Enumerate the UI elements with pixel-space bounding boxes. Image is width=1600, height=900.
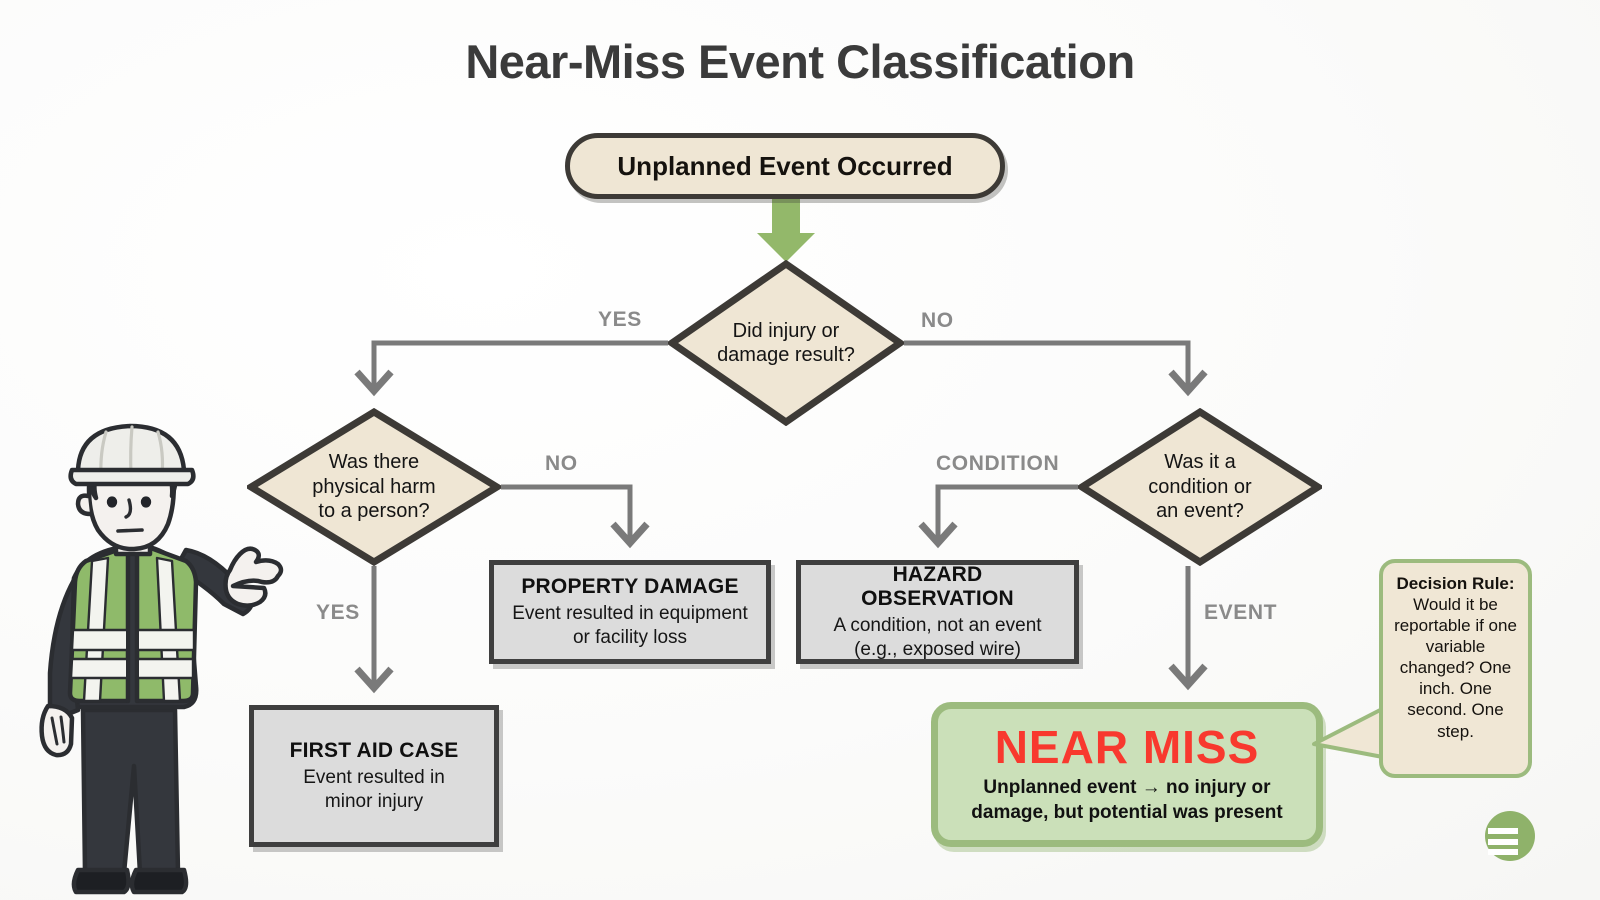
edge-label-root-yes: YES — [598, 308, 642, 332]
callout-body: Would it be reportable if one variable c… — [1394, 595, 1517, 740]
decision-rule-callout[interactable]: Decision Rule: Would it be reportable if… — [1379, 559, 1532, 778]
outcome-desc-line2: or facility loss — [573, 626, 687, 649]
edge-label-root-no: NO — [921, 309, 954, 333]
outcome-title: HAZARD OBSERVATION — [815, 563, 1060, 611]
edge-left-yes — [357, 566, 391, 688]
start-node-label: Unplanned Event Occurred — [617, 152, 952, 181]
edge-root-no — [904, 343, 1205, 391]
near-miss-desc-line2: damage, but potential was present — [971, 801, 1282, 825]
near-miss-title: NEAR MISS — [995, 724, 1260, 770]
construction-worker-illustration — [28, 418, 290, 900]
diamond-shape — [1078, 408, 1322, 566]
callout-heading: Decision Rule: — [1396, 574, 1514, 593]
edge-left-no — [501, 487, 647, 543]
diamond-shape — [668, 260, 904, 426]
decision-did-injury-or-damage-result[interactable]: Did injury or damage result? — [668, 260, 904, 426]
callout-text-group: Decision Rule: Would it be reportable if… — [1391, 573, 1520, 742]
decision-was-it-a-condition-or-an-event[interactable]: Was it a condition or an event? — [1078, 408, 1322, 566]
near-miss-desc-line1: Unplanned event → no injury or — [983, 776, 1270, 800]
outcome-desc-line1: Event resulted in — [303, 766, 445, 789]
edge-label-left-no: NO — [545, 452, 578, 476]
outcome-desc-line1: A condition, not an event — [833, 614, 1041, 637]
outcome-desc-line2: (e.g., exposed wire) — [854, 638, 1021, 661]
edge-label-left-yes: YES — [316, 601, 360, 625]
start-node[interactable]: Unplanned Event Occurred — [565, 133, 1005, 199]
outcome-title: FIRST AID CASE — [290, 739, 459, 763]
edge-label-right-condition: CONDITION — [936, 452, 1059, 476]
edge-right-condition — [921, 487, 1078, 543]
edge-label-right-event: EVENT — [1204, 601, 1277, 625]
outcome-title: PROPERTY DAMAGE — [521, 575, 738, 599]
outcome-desc-line1: Event resulted in equipment — [512, 602, 748, 625]
outcome-desc-line2: minor injury — [325, 790, 423, 813]
outcome-near-miss[interactable]: NEAR MISS Unplanned event → no injury or… — [931, 702, 1323, 847]
edge-right-event — [1171, 566, 1205, 685]
edge-start-to-root — [757, 199, 815, 262]
outcome-property-damage[interactable]: PROPERTY DAMAGE Event resulted in equipm… — [489, 560, 771, 664]
edge-root-yes — [357, 343, 668, 391]
brand-logo-icon — [1482, 808, 1538, 864]
outcome-hazard-observation[interactable]: HAZARD OBSERVATION A condition, not an e… — [796, 560, 1079, 664]
